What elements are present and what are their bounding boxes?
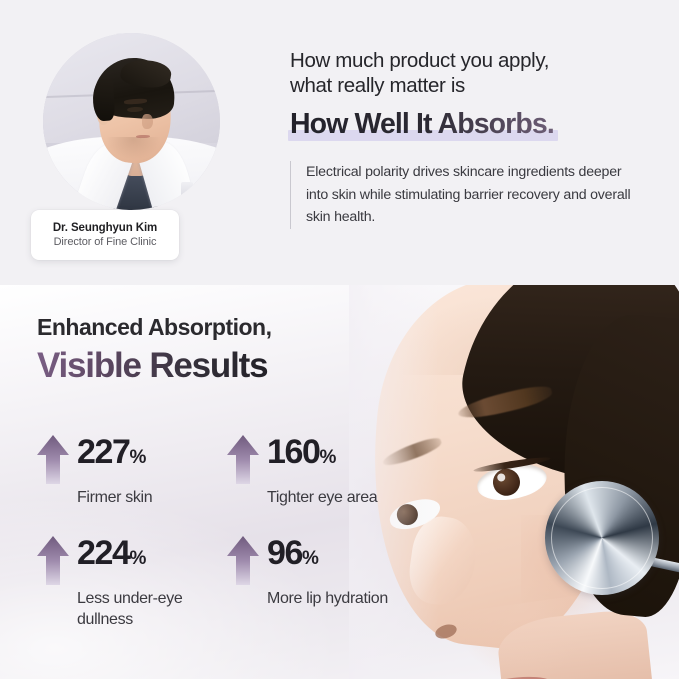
stat-item-firmer-skin: 227% Firmer skin — [36, 433, 226, 508]
stat-label-less-under-eye-dullness: Less under-eye dullness — [77, 588, 226, 630]
stat-value-firmer-skin: 227% — [77, 433, 146, 477]
stat-top-firmer-skin: 227% — [36, 433, 226, 486]
top-body-block: Electrical polarity drives skincare ingr… — [290, 161, 642, 229]
stat-item-less-under-eye-dullness: 224% Less under-eye dullness — [36, 534, 226, 630]
stat-label-more-lip-hydration: More lip hydration — [267, 588, 396, 609]
headline-lead-line-2: what really matter is — [290, 73, 650, 98]
top-body-paragraph: Electrical polarity drives skincare ingr… — [306, 161, 642, 229]
headline-strong: How Well It Absorbs. — [290, 108, 554, 141]
results-heading-line-2: Visible Results — [37, 344, 272, 388]
up-arrow-icon — [226, 535, 260, 587]
up-arrow-icon — [36, 434, 70, 486]
stat-value-less-under-eye-dullness: 224% — [77, 534, 146, 578]
coat-badge — [181, 182, 193, 198]
stat-item-more-lip-hydration: 96% More lip hydration — [226, 534, 396, 630]
stat-value-tighter-eye-area: 160% — [267, 433, 336, 477]
results-heading-line-1: Enhanced Absorption, — [37, 313, 272, 341]
expert-endorsement-section: Dr. Seunghyun Kim Director of Fine Clini… — [0, 0, 679, 285]
headline-lead-line-1: How much product you apply, — [290, 48, 650, 73]
stat-item-tighter-eye-area: 160% Tighter eye area — [226, 433, 396, 508]
results-heading-block: Enhanced Absorption, Visible Results — [37, 313, 272, 388]
stat-top-less-under-eye-dullness: 224% — [36, 534, 226, 587]
stat-label-tighter-eye-area: Tighter eye area — [267, 487, 396, 508]
product-infographic: Dr. Seunghyun Kim Director of Fine Clini… — [0, 0, 679, 679]
stat-value-more-lip-hydration: 96% — [267, 534, 318, 578]
doctor-name-card: Dr. Seunghyun Kim Director of Fine Clini… — [31, 210, 179, 260]
up-arrow-icon — [226, 434, 260, 486]
stats-row-1: 227% Firmer skin 160% Tighter eye area — [36, 433, 396, 508]
results-section: Enhanced Absorption, Visible Results — [0, 285, 679, 679]
ring-inner-highlight — [551, 487, 653, 589]
chrome-ring-device — [545, 481, 659, 595]
doctor-nose — [142, 114, 153, 128]
stat-label-firmer-skin: Firmer skin — [77, 487, 226, 508]
stats-grid: 227% Firmer skin 160% Tighter eye area — [36, 433, 396, 630]
stats-row-2: 224% Less under-eye dullness 96% More li… — [36, 534, 396, 630]
doctor-name: Dr. Seunghyun Kim — [53, 222, 157, 234]
up-arrow-icon — [36, 535, 70, 587]
jaw-shadow — [107, 137, 160, 158]
model-iris-right — [491, 467, 521, 497]
headline-strong-wrap: How Well It Absorbs. — [290, 108, 554, 141]
top-headline-block: How much product you apply, what really … — [290, 48, 650, 141]
doctor-role: Director of Fine Clinic — [54, 236, 157, 248]
doctor-portrait — [43, 33, 220, 210]
model-photo — [349, 285, 679, 679]
stat-top-tighter-eye-area: 160% — [226, 433, 396, 486]
stat-top-more-lip-hydration: 96% — [226, 534, 396, 587]
